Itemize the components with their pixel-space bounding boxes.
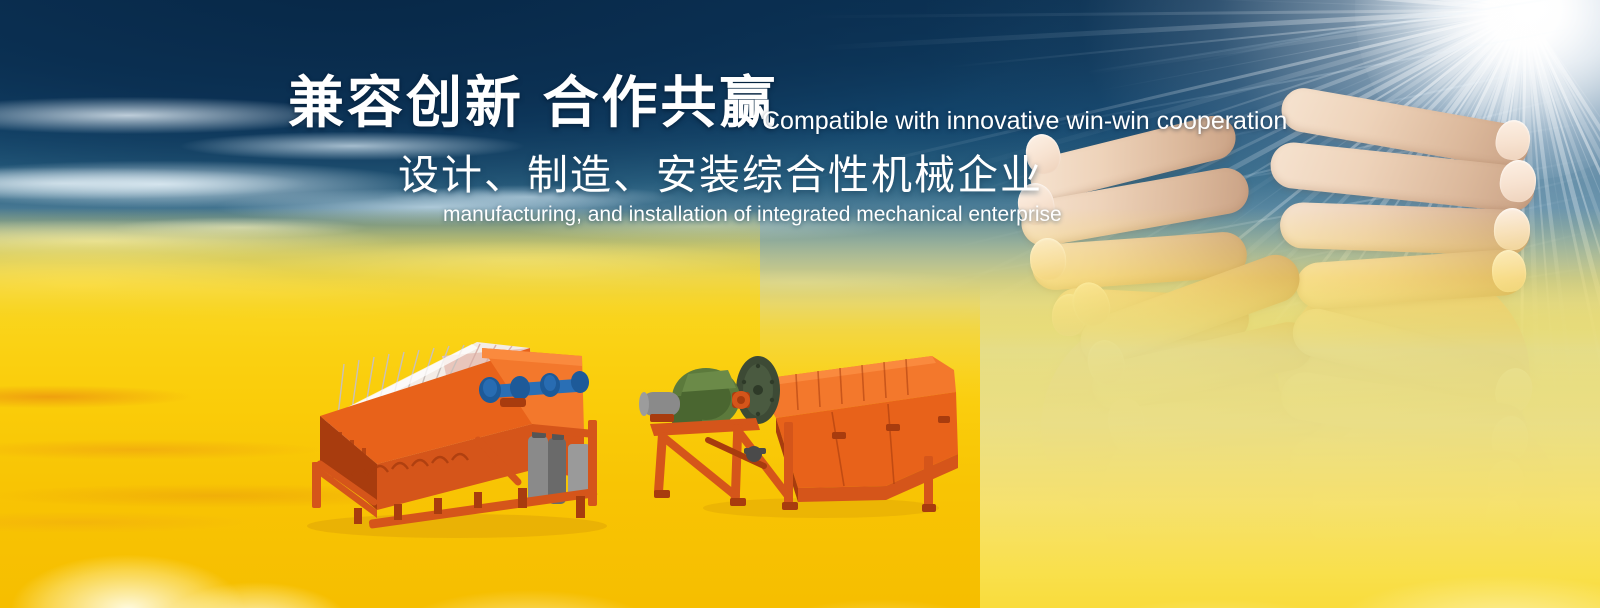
subheadline-english: manufacturing, and installation of integ…: [443, 202, 1062, 227]
headline-english: Compatible with innovative win-win coope…: [762, 107, 1287, 135]
subheadline-chinese: 设计、制造、安装综合性机械企业: [398, 152, 1043, 199]
headline-chinese: 兼容创新 合作共赢: [288, 72, 779, 134]
banner-text-block: 兼容创新 合作共赢 Compatible with innovative win…: [0, 0, 1600, 608]
company-hero-banner: 兼容创新 合作共赢 Compatible with innovative win…: [0, 0, 1600, 608]
